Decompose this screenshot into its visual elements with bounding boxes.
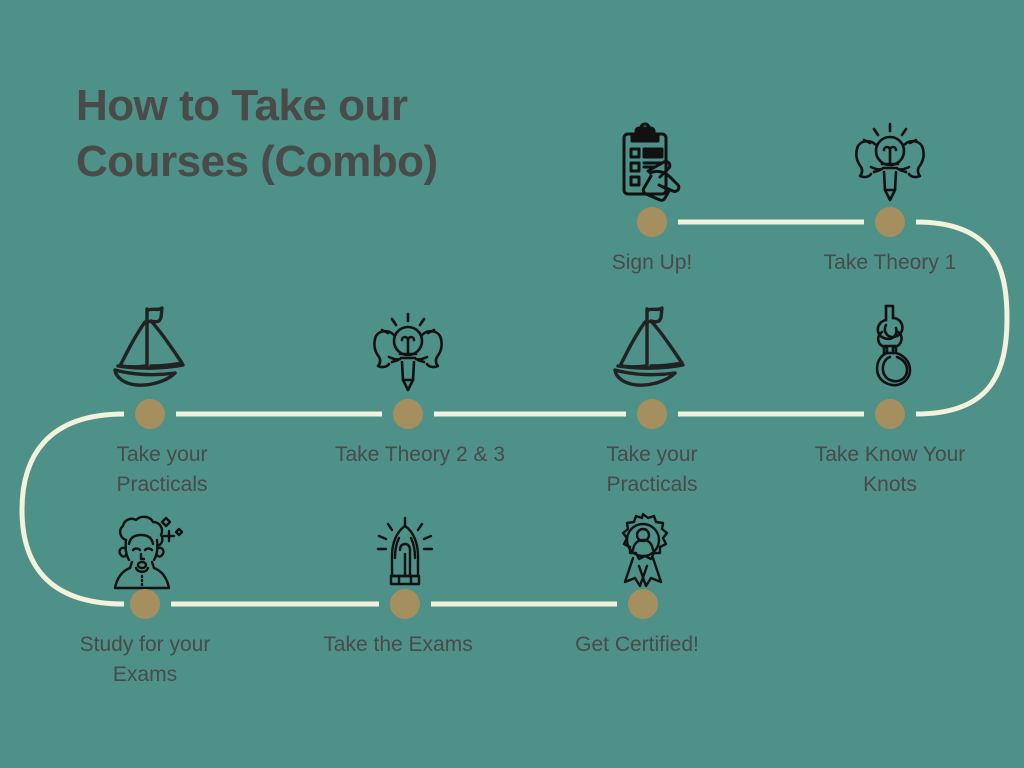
step-dot-sign-up[interactable] [637, 207, 667, 237]
step-dot-take-theory-1[interactable] [875, 207, 905, 237]
thinking-person-sparkles-icon [40, 500, 250, 592]
step-node-take-know-your-knots[interactable] [785, 300, 995, 400]
step-node-take-theory-2-and-3[interactable] [303, 300, 513, 400]
step-label-get-certified: Get Certified! [522, 630, 752, 660]
fountain-pen-nib-icon [300, 500, 510, 592]
step-dot-take-your-practicals-left[interactable] [135, 399, 165, 429]
step-node-take-theory-1[interactable] [785, 110, 995, 210]
step-label-take-your-practicals-right: Take your Practicals [537, 440, 767, 501]
step-dot-take-the-exams[interactable] [390, 589, 420, 619]
step-dot-study-for-your-exams[interactable] [130, 589, 160, 619]
step-label-study-for-your-exams: Study for your Exams [30, 630, 260, 691]
step-node-study-for-your-exams[interactable] [40, 500, 250, 600]
step-label-sign-up: Sign Up! [537, 248, 767, 278]
step-node-take-your-practicals-right[interactable] [547, 300, 757, 400]
step-label-take-know-your-knots: Take Know Your Knots [775, 440, 1005, 501]
lightbulb-pencil-muscle-icon [303, 300, 513, 392]
step-dot-take-theory-2-and-3[interactable] [393, 399, 423, 429]
step-label-take-the-exams: Take the Exams [283, 630, 513, 660]
step-label-take-your-practicals-left: Take your Practicals [47, 440, 277, 501]
step-node-get-certified[interactable] [538, 500, 748, 600]
step-label-take-theory-2-and-3: Take Theory 2 & 3 [305, 440, 535, 470]
rope-knot-icon [785, 300, 995, 392]
step-label-take-theory-1: Take Theory 1 [775, 248, 1005, 278]
lightbulb-pencil-muscle-icon [785, 110, 995, 202]
step-node-sign-up[interactable] [547, 110, 757, 210]
clipboard-hand-pen-icon [547, 110, 757, 202]
page-title: How to Take our Courses (Combo) [76, 78, 596, 191]
sailboat-icon [47, 300, 257, 392]
step-node-take-the-exams[interactable] [300, 500, 510, 600]
step-node-take-your-practicals-left[interactable] [47, 300, 257, 400]
step-dot-take-know-your-knots[interactable] [875, 399, 905, 429]
step-dot-take-your-practicals-right[interactable] [637, 399, 667, 429]
infographic-canvas: How to Take our Courses (Combo) [0, 0, 1024, 768]
award-rosette-icon [538, 500, 748, 592]
step-dot-get-certified[interactable] [628, 589, 658, 619]
sailboat-icon [547, 300, 757, 392]
